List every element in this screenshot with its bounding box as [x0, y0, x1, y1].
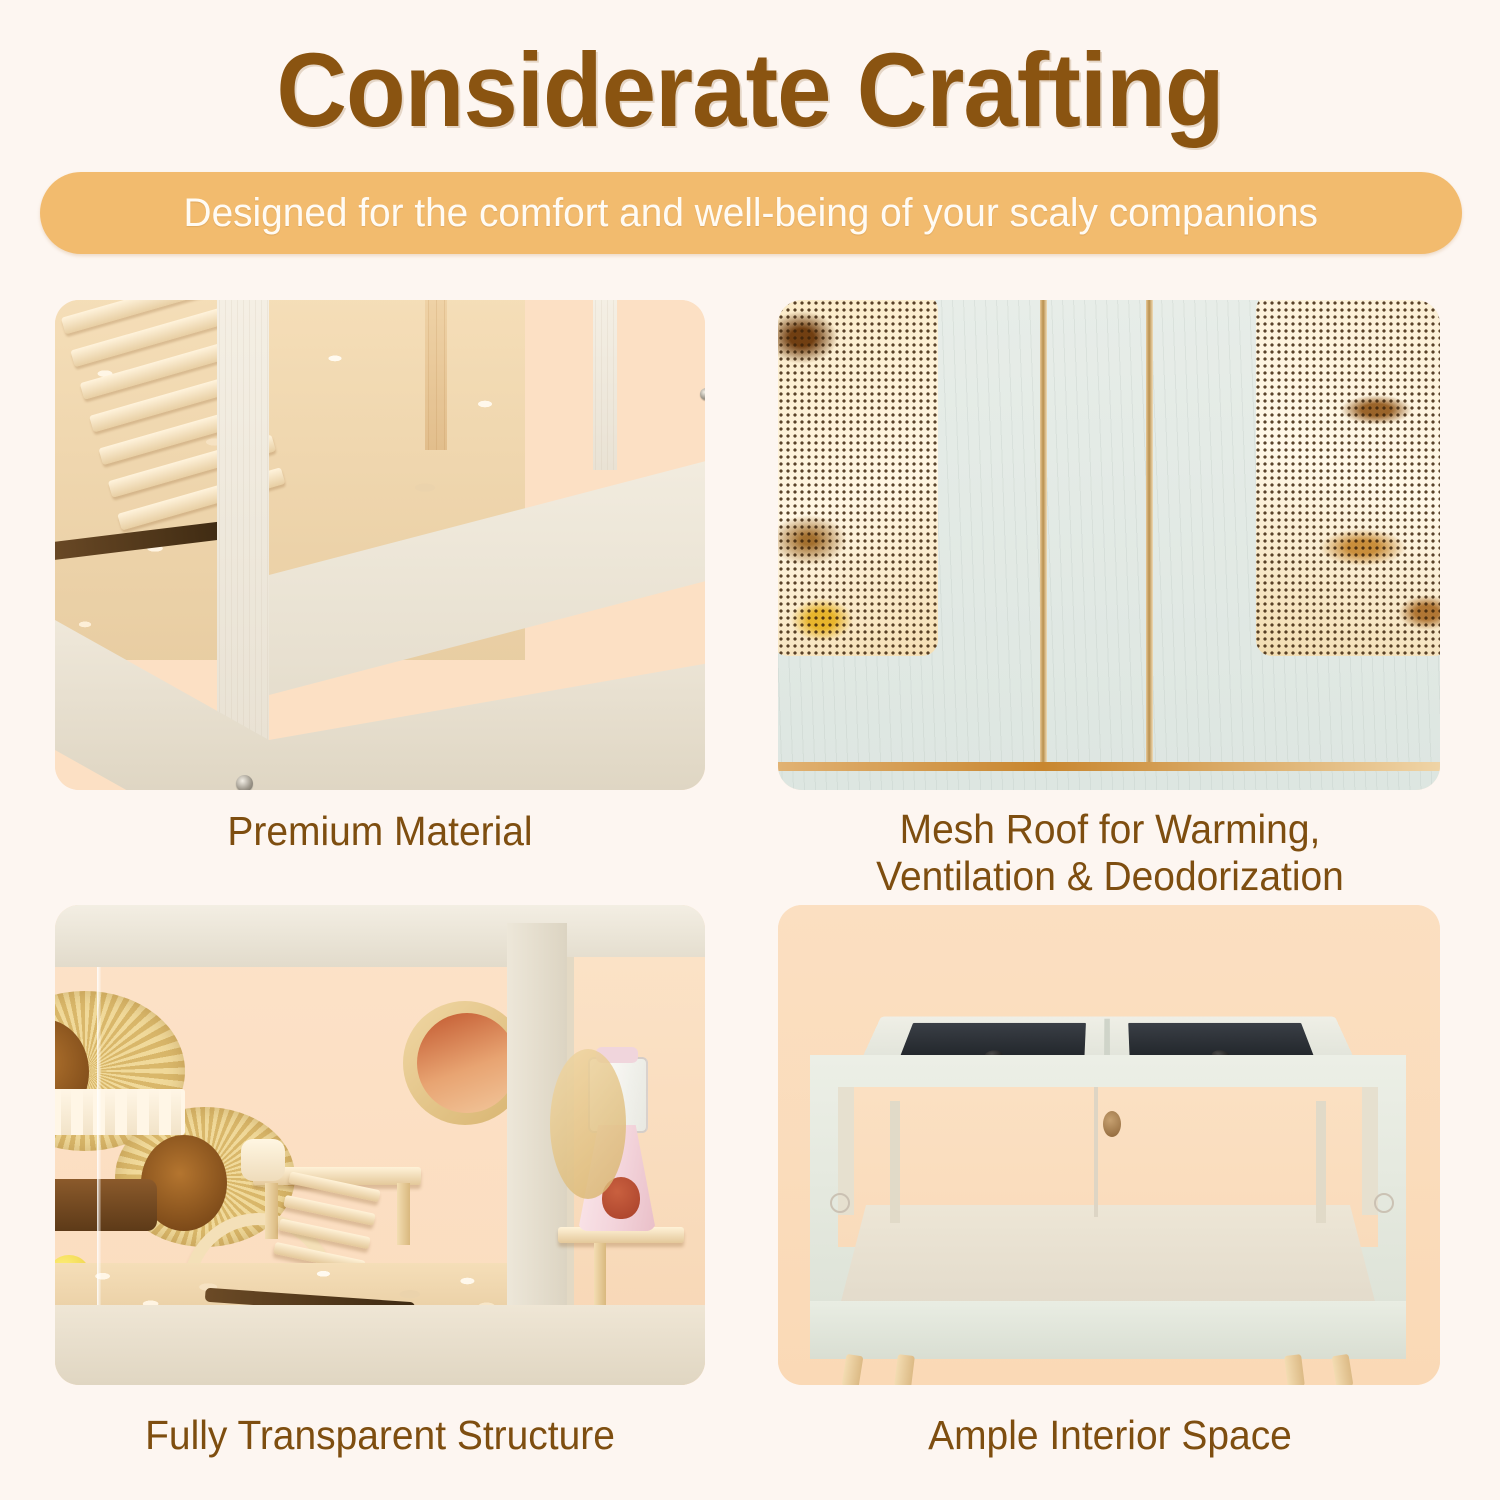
- door-seam: [1094, 1087, 1098, 1217]
- feature-photo-transparent-structure: [55, 905, 705, 1385]
- vent-ring-left: [830, 1193, 850, 1213]
- mesh-panel-right: [1256, 300, 1440, 656]
- base-rail: [55, 1305, 705, 1385]
- acrylic-panel-edge: [97, 967, 101, 1307]
- inner-post-right: [1316, 1101, 1326, 1223]
- roof-front-trim: [778, 762, 1440, 771]
- door-latch[interactable]: [1103, 1111, 1121, 1137]
- inner-post-left: [890, 1101, 900, 1223]
- plank-gap-right: [1146, 300, 1153, 765]
- screw-icon: [236, 775, 253, 790]
- caption-line-2: Ventilation & Deodorization: [778, 853, 1443, 900]
- cage-inner-floor: [838, 1205, 1378, 1313]
- vent-ring-right: [1374, 1193, 1394, 1213]
- feature-photo-ample-interior-space: [778, 905, 1440, 1385]
- wooden-log-tunnel: [55, 1179, 157, 1231]
- mesh-grid-overlay: [1256, 300, 1440, 656]
- corner-post: [217, 300, 269, 740]
- subtitle-banner: Designed for the comfort and well-being …: [40, 172, 1462, 254]
- cage-interior: [55, 967, 507, 1307]
- cage-leg-back-left: [894, 1354, 915, 1385]
- bear-figurine: [241, 1139, 285, 1181]
- mesh-panel-left: [778, 300, 938, 656]
- caption-premium-material: Premium Material: [71, 808, 689, 855]
- decorative-fence: [55, 1089, 185, 1135]
- platform-leg: [397, 1183, 410, 1245]
- right-edge-post: [593, 300, 617, 470]
- caption-transparent-structure: Fully Transparent Structure: [48, 1412, 713, 1459]
- page-title: Considerate Crafting: [53, 36, 1448, 146]
- feature-photo-premium-material: [55, 300, 705, 790]
- plank-gap-left: [1040, 300, 1047, 765]
- caption-ample-interior-space: Ample Interior Space: [806, 1412, 1414, 1459]
- mesh-grid-overlay: [778, 300, 938, 656]
- platform-leg: [265, 1183, 278, 1239]
- base-skirt: [810, 1301, 1406, 1359]
- subtitle-text: Designed for the comfort and well-being …: [184, 191, 1318, 235]
- caption-mesh-roof: Mesh Roof for Warming, Ventilation & Deo…: [778, 806, 1443, 900]
- feature-photo-mesh-roof: [778, 300, 1440, 790]
- wheel-edge: [550, 1049, 626, 1199]
- caption-line-1: Mesh Roof for Warming,: [778, 806, 1443, 853]
- exercise-wheel-face: [417, 1013, 507, 1113]
- screw-icon: [700, 388, 705, 400]
- interior-post-1: [425, 300, 447, 450]
